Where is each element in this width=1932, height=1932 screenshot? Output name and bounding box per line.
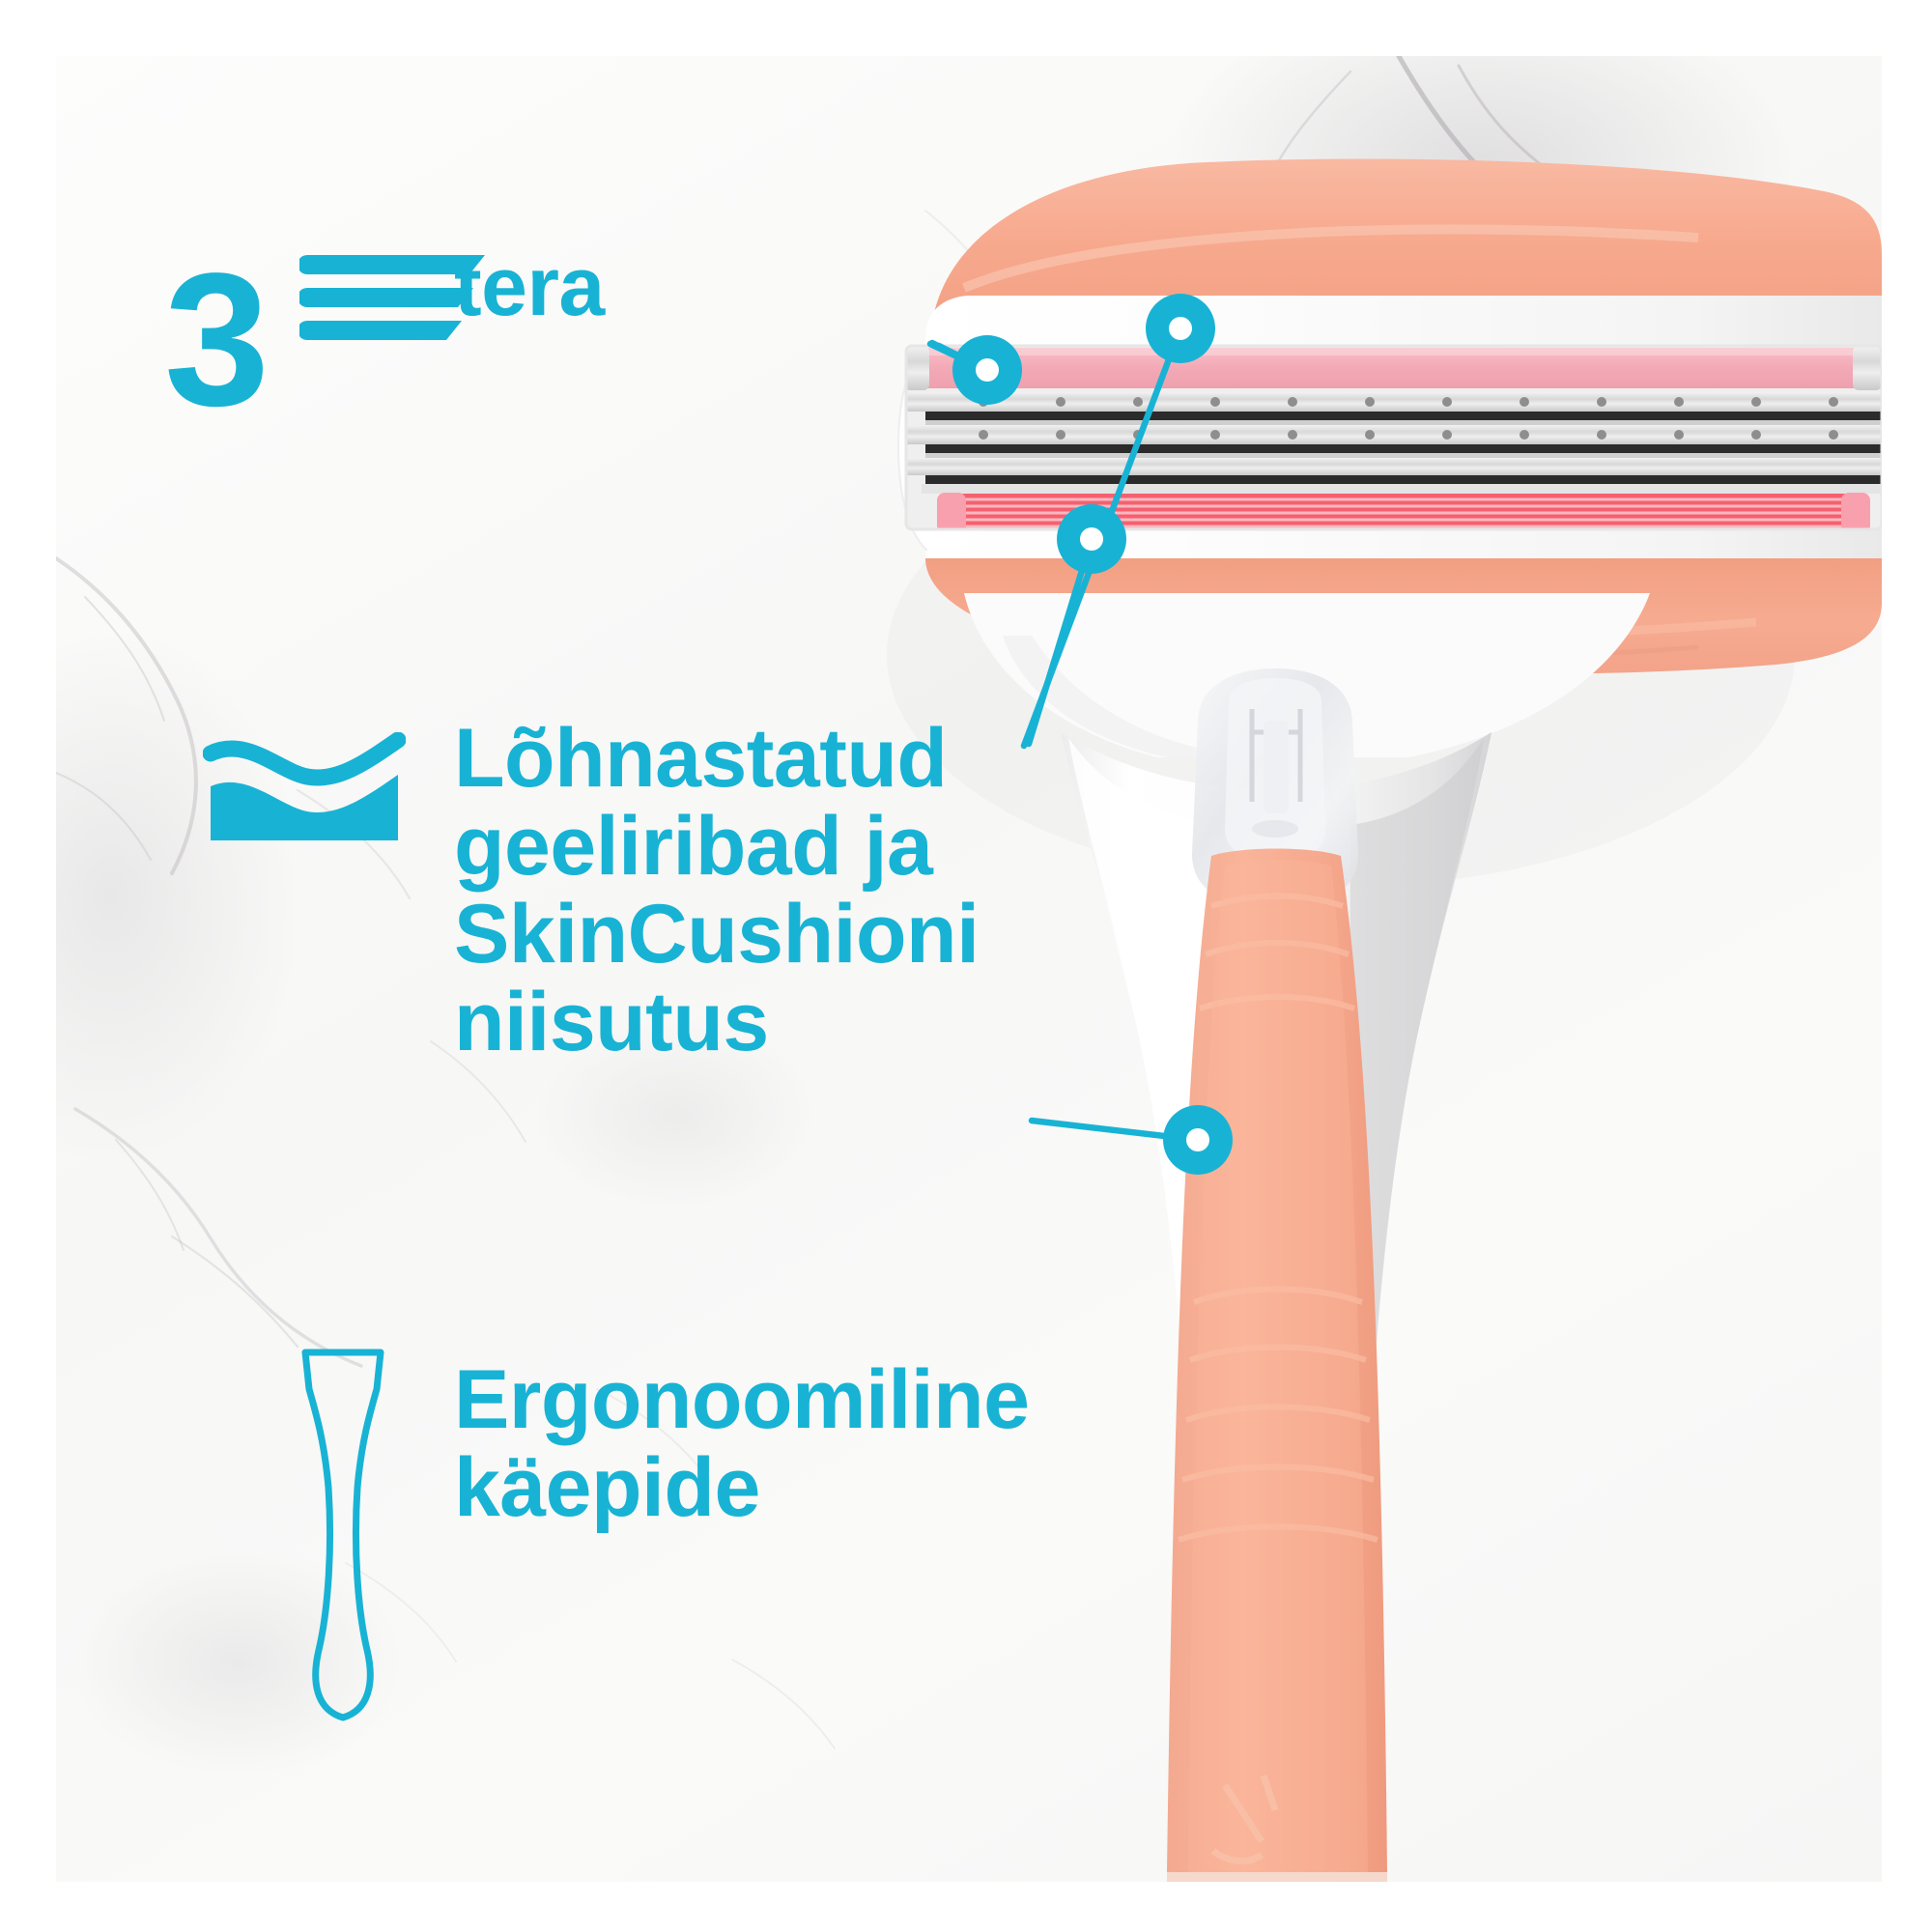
feature-handle: Ergonoomiline käepide (164, 1333, 956, 1739)
feature-blades: 3 tera (164, 232, 898, 454)
wave-moisture-icon (203, 732, 406, 848)
feature-gel-label: Lõhnastatud geeliribad ja SkinCushioni n… (454, 715, 979, 1067)
feature-blades-label: tera (454, 243, 605, 331)
infographic-canvas: 3 tera Lõhnastatud geeliribad ja SkinCus… (0, 0, 1932, 1932)
feature-gel: Lõhnastatud geeliribad ja SkinCushioni n… (164, 715, 956, 1121)
feature-handle-label: Ergonoomiline käepide (454, 1356, 1030, 1532)
ergonomic-handle-icon (280, 1343, 406, 1729)
blade-count-number: 3 (164, 245, 264, 435)
